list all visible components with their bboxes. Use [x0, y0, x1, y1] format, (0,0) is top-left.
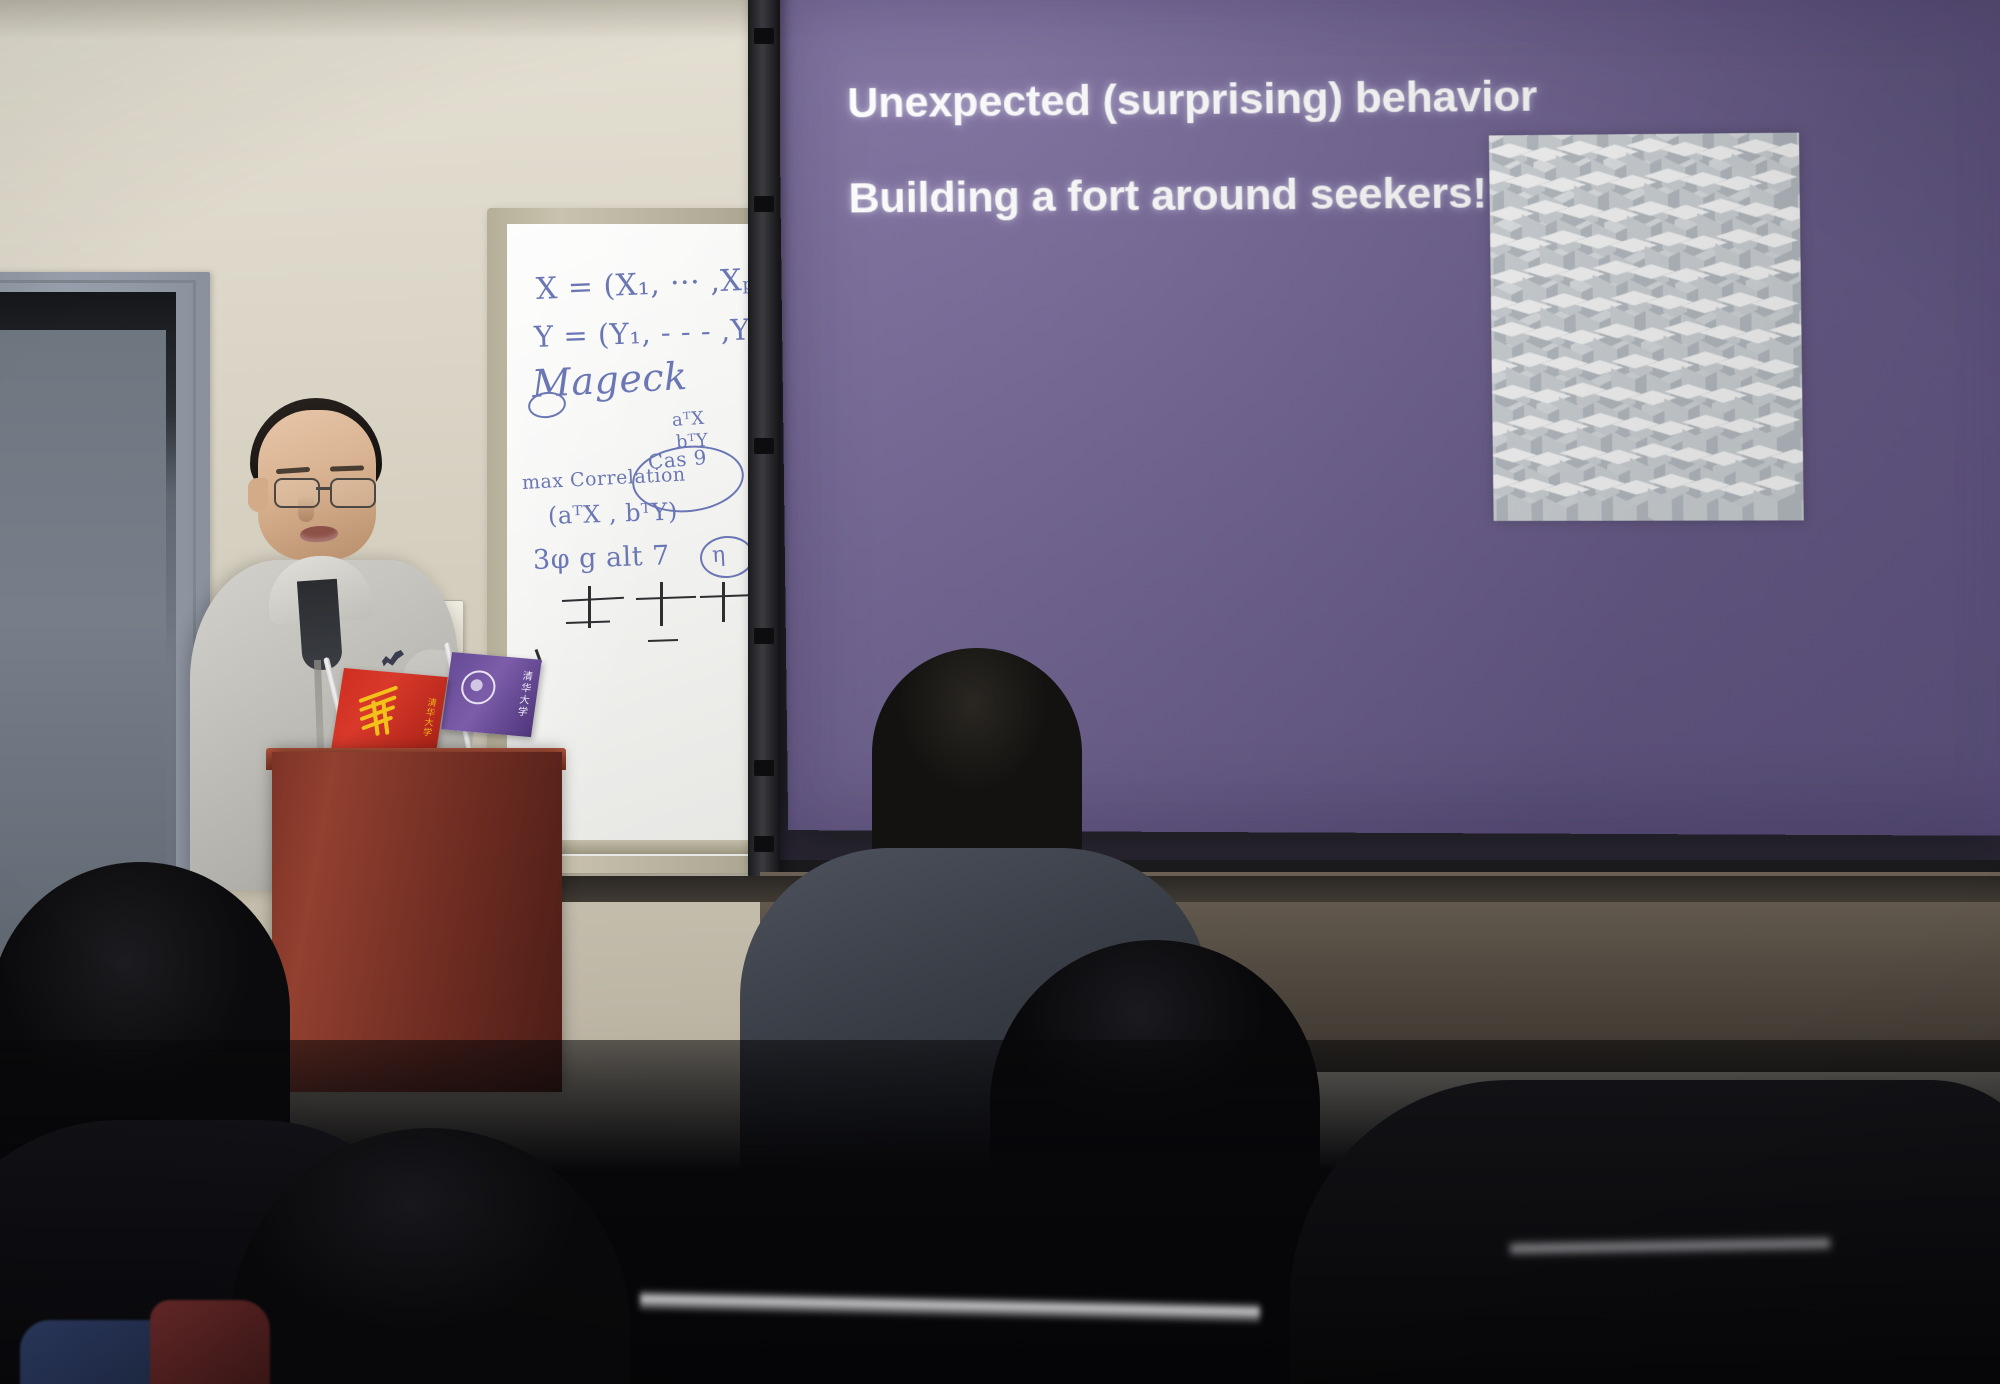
wainscot-trim — [560, 876, 2000, 902]
screen-mount-clip — [754, 28, 774, 44]
projection-screen-mount — [748, 0, 780, 878]
audience-clothing — [150, 1300, 270, 1384]
eyeglasses-icon — [274, 478, 378, 504]
screen-mount-clip — [754, 196, 774, 212]
screen-mount-clip — [754, 760, 774, 776]
slide-decoration-image — [1489, 133, 1804, 521]
speaker-ear — [248, 478, 268, 512]
flag-red: 清华大学 — [331, 668, 448, 760]
whiteboard-term-eta: η — [711, 542, 726, 568]
whiteboard-term-galt: 3φ g alt 7 — [532, 540, 670, 576]
whiteboard-term-pair: (aᵀX , bᵀY) — [548, 497, 679, 530]
flag-red-label: 清华大学 — [419, 697, 438, 738]
cube-tile — [1753, 476, 1801, 521]
whiteboard-diagram-stroke — [660, 582, 663, 626]
whiteboard-diagram-stroke — [722, 582, 725, 622]
flag-purple: 清华大学 — [441, 652, 542, 737]
speaker-nose — [298, 496, 314, 522]
screen-mount-clip — [754, 836, 774, 852]
lecture-photo-scene: X = (X₁, ··· ,Xₚ) Y = (Y₁, - - - ,Yₙ) Ma… — [0, 0, 2000, 1384]
screen-mount-clip — [754, 438, 774, 454]
screen-mount-clip — [754, 628, 774, 644]
slide-title: Unexpected (surprising) behavior — [847, 72, 1537, 128]
flag-emblem-icon — [352, 695, 406, 739]
eyeglass-lens — [330, 478, 376, 508]
audience-mass — [1290, 1080, 2000, 1384]
speaker-zip-placket — [297, 579, 343, 672]
slide-subtitle: Building a fort around seekers! — [848, 169, 1487, 224]
whiteboard-term-atx: aᵀX — [671, 408, 705, 431]
